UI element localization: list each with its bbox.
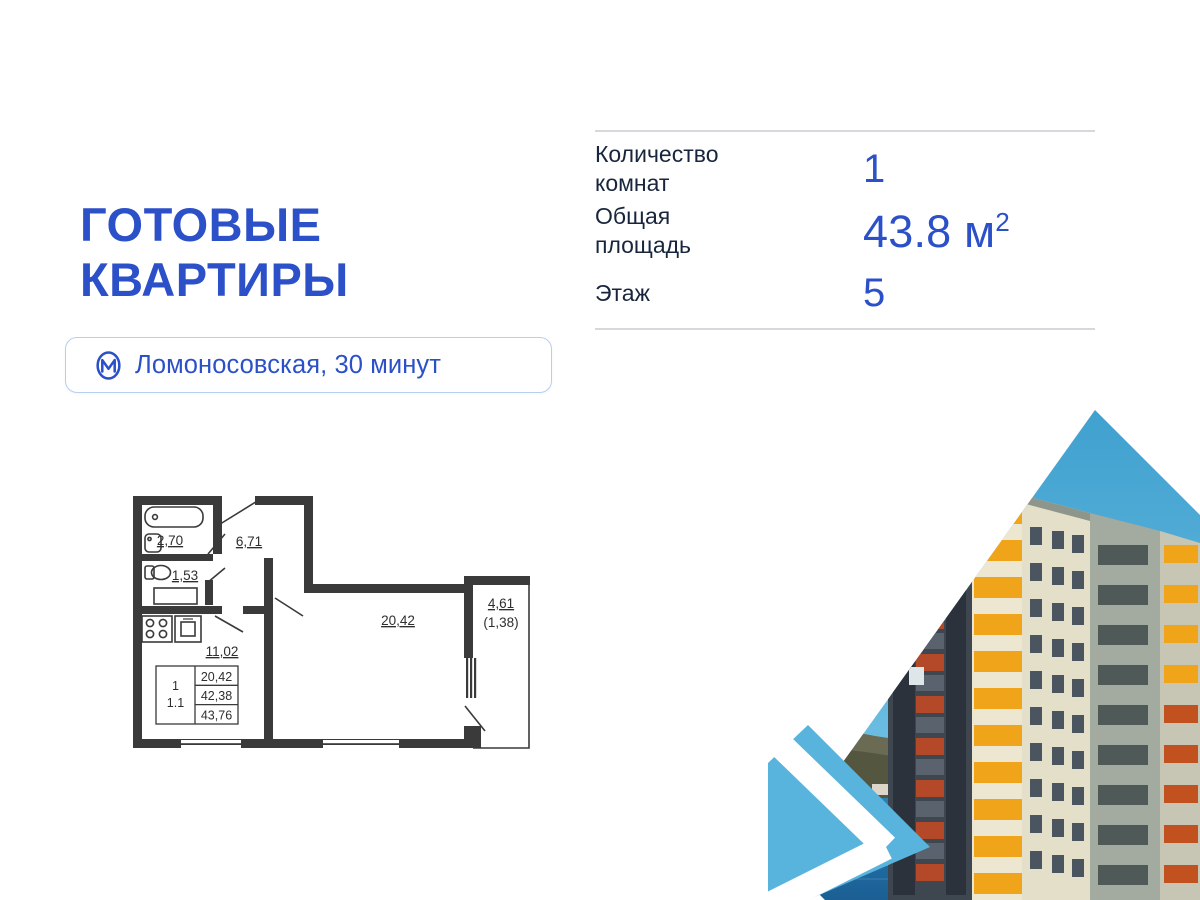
tower-orange-face xyxy=(972,487,1022,900)
spec-row-area: Общая площадь 43.8 м2 xyxy=(595,200,1095,262)
area-kitchen: 11,02 xyxy=(206,644,239,659)
summary-apartment-index: 1.1 xyxy=(167,696,184,710)
summary-total-area: 43,76 xyxy=(201,708,232,722)
building-photo xyxy=(760,395,1200,900)
spec-label-floor: Этаж xyxy=(595,279,863,308)
floorplan[interactable]: 2,70 6,71 1,53 20,42 11,02 4,61 (1,38) 1 xyxy=(125,488,530,763)
tower-right-block xyxy=(1022,495,1200,900)
spec-label-area: Общая площадь xyxy=(595,202,863,259)
spec-row-floor: Этаж 5 xyxy=(595,262,1095,324)
area-bathroom: 2,70 xyxy=(157,533,183,548)
left-window-highlight xyxy=(909,667,924,685)
kitchen-sink-icon xyxy=(175,616,201,642)
stove-icon xyxy=(142,616,172,642)
metro-station-label: Ломоносовская, 30 минут xyxy=(135,351,441,380)
floorplan-summary-table: 1 1.1 20,42 42,38 43,76 xyxy=(156,666,238,724)
summary-area-without-balcony: 42,38 xyxy=(201,689,232,703)
area-hallway: 6,71 xyxy=(236,534,262,549)
balcony-glazing xyxy=(466,658,476,698)
area-wc: 1,53 xyxy=(172,568,198,583)
area-living-room: 20,42 xyxy=(381,613,415,628)
spec-value-area-number: 43.8 м xyxy=(863,206,995,257)
building-artwork xyxy=(760,395,1200,900)
area-balcony-coef: (1,38) xyxy=(483,615,518,630)
spec-row-rooms: Количество комнат 1 xyxy=(595,138,1095,200)
right-loggias xyxy=(1098,545,1148,885)
area-balcony: 4,61 xyxy=(488,596,514,611)
counter-icon xyxy=(154,588,197,604)
listing-card: ГОТОВЫЕ КВАРТИРЫ Ломоносовская, 30 минут… xyxy=(0,0,1200,900)
apartment-specs: Количество комнат 1 Общая площадь 43.8 м… xyxy=(595,130,1095,330)
spec-divider-bottom xyxy=(595,328,1095,330)
spec-value-area-superscript: 2 xyxy=(995,207,1010,237)
spec-value-rooms: 1 xyxy=(863,149,885,189)
page-title: ГОТОВЫЕ КВАРТИРЫ xyxy=(80,198,349,307)
summary-apartment-number: 1 xyxy=(172,679,179,693)
left-balconies xyxy=(916,528,944,881)
floorplan-drawing: 2,70 6,71 1,53 20,42 11,02 4,61 (1,38) 1 xyxy=(125,488,530,763)
bathtub-icon xyxy=(145,507,203,527)
cloud xyxy=(786,702,838,708)
metro-logo-icon xyxy=(93,350,124,381)
metro-station-badge[interactable]: Ломоносовская, 30 минут xyxy=(65,337,552,393)
spec-value-floor: 5 xyxy=(863,273,885,313)
spec-label-rooms: Количество комнат xyxy=(595,140,863,197)
spec-value-area: 43.8 м2 xyxy=(863,209,1010,254)
toilet-icon xyxy=(145,566,171,580)
summary-living-area: 20,42 xyxy=(201,670,232,684)
